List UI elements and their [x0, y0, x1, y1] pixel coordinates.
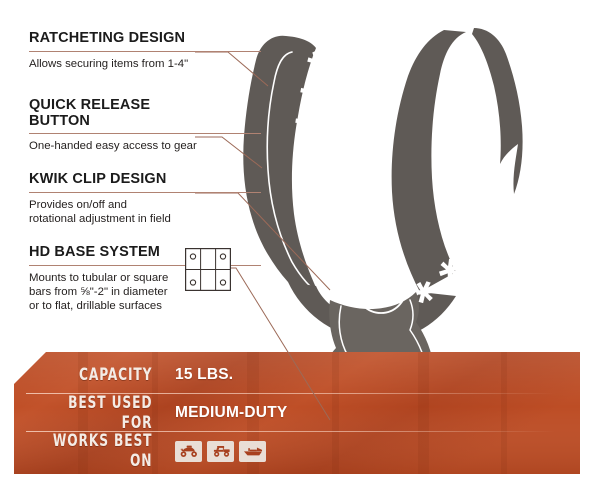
callout-quick-release-button: QUICK RELEASE BUTTON One-handed easy acc… — [29, 98, 261, 153]
callout-rule — [29, 133, 261, 134]
boat-icon — [239, 441, 266, 462]
callout-rule — [29, 51, 261, 52]
callout-title: QUICK RELEASE BUTTON — [29, 98, 261, 129]
works-best-on-icon-list — [162, 441, 266, 462]
clamp-right-jaw-main — [392, 30, 466, 292]
spec-label-best-used-for: BEST USED FOR — [44, 393, 162, 433]
atv-icon — [175, 441, 202, 462]
utv-icon — [207, 441, 234, 462]
clamp-right-jaw — [472, 28, 523, 194]
hd-base-plate-diagram — [185, 248, 231, 291]
spec-row-capacity: CAPACITY 15 LBS. — [14, 356, 580, 394]
callout-body: Allows securing items from 1-4" — [29, 57, 261, 71]
spec-value-capacity: 15 LBS. — [162, 366, 233, 384]
infographic-canvas: CAPACITY 15 LBS. BEST USED FOR MEDIUM-DU… — [0, 0, 600, 488]
callout-body: One-handed easy access to gear — [29, 139, 261, 153]
spec-row-works-best-on: WORKS BEST ON — [14, 432, 580, 470]
callout-ratcheting-design: RATCHETING DESIGN Allows securing items … — [29, 31, 261, 71]
spec-banner: CAPACITY 15 LBS. BEST USED FOR MEDIUM-DU… — [14, 352, 580, 474]
callout-body: Provides on/off and rotational adjustmen… — [29, 198, 261, 226]
callout-title: RATCHETING DESIGN — [29, 31, 261, 47]
spec-row-best-used-for: BEST USED FOR MEDIUM-DUTY — [14, 394, 580, 432]
utv-glyph — [210, 443, 232, 459]
callout-title: KWIK CLIP DESIGN — [29, 172, 261, 188]
spec-value-best-used-for: MEDIUM-DUTY — [162, 404, 287, 422]
boat-glyph — [242, 443, 264, 459]
callout-rule — [29, 192, 261, 193]
atv-glyph — [178, 443, 200, 459]
callout-kwik-clip-design: KWIK CLIP DESIGN Provides on/off and rot… — [29, 172, 261, 226]
spec-label-works-best-on: WORKS BEST ON — [44, 431, 162, 471]
spec-label-capacity: CAPACITY — [44, 365, 162, 385]
